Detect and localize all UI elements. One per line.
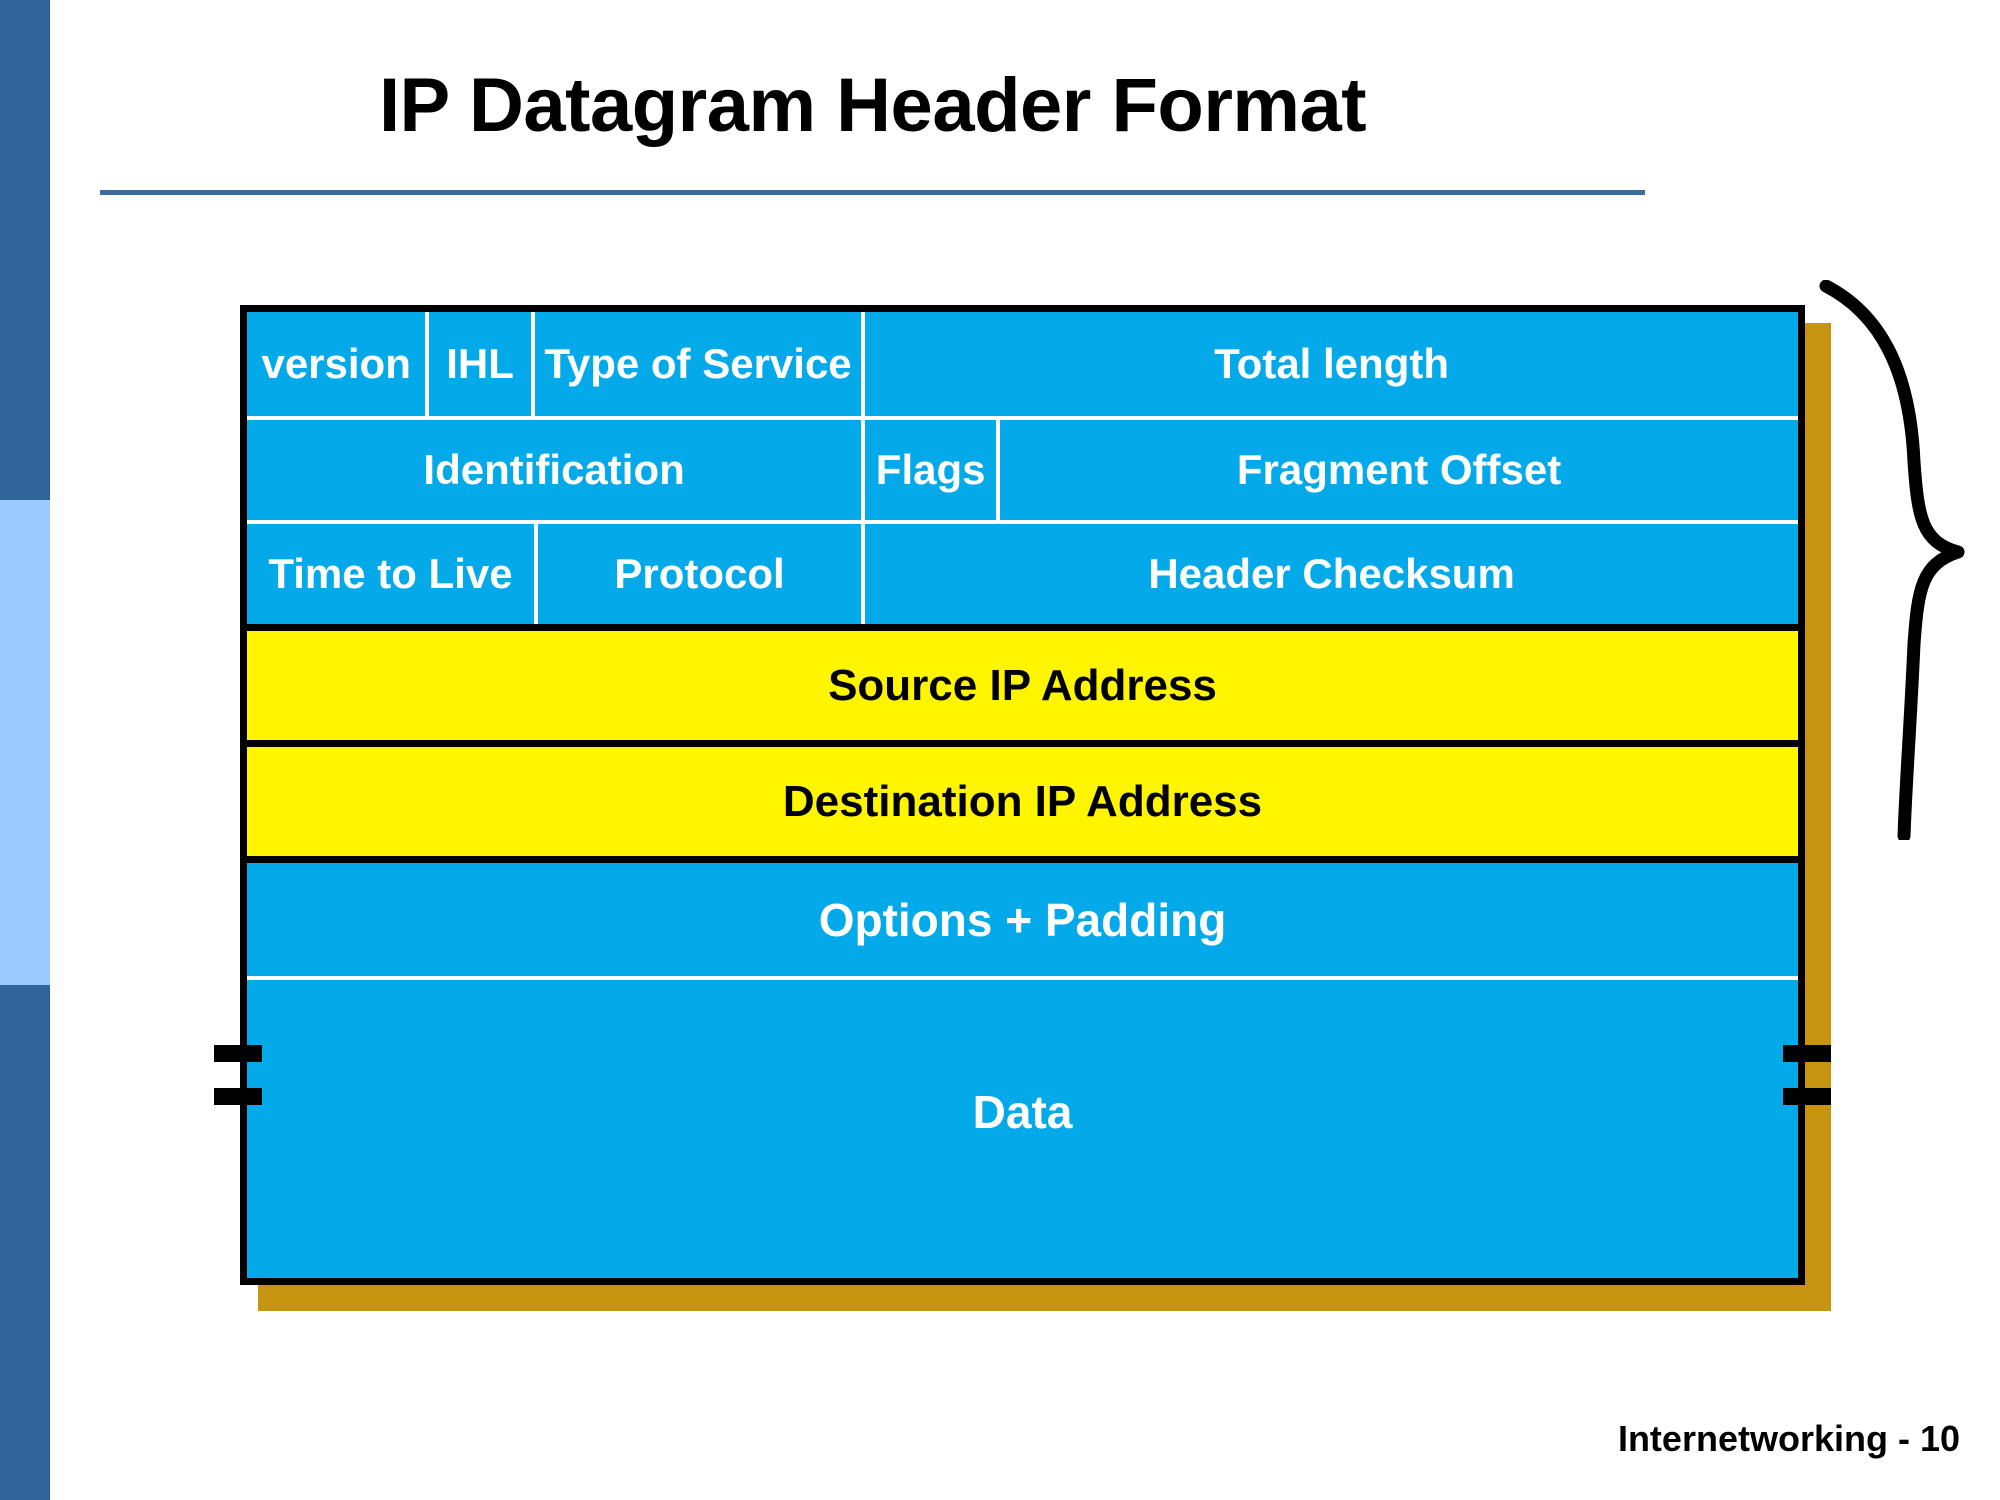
field-type-of-service: Type of Service (531, 312, 861, 416)
sidebar-segment-middle (0, 500, 50, 985)
field-time-to-live: Time to Live (247, 524, 534, 624)
table-row: Options + Padding (247, 856, 1798, 976)
ip-header-table: version IHL Type of Service Total length… (240, 305, 1805, 1285)
field-total-length: Total length (861, 312, 1798, 416)
title-divider (100, 190, 1645, 195)
break-tick-left-lower-icon (214, 1088, 262, 1105)
table-row: Identification Flags Fragment Offset (247, 416, 1798, 520)
field-identification: Identification (247, 420, 861, 520)
break-tick-right-lower-icon (1783, 1088, 1831, 1105)
slide-footer: Internetworking - 10 (1618, 1418, 1960, 1460)
field-data: Data (247, 980, 1798, 1244)
table-row: Time to Live Protocol Header Checksum (247, 520, 1798, 624)
field-source-ip-address: Source IP Address (247, 631, 1798, 740)
header-span-brace-icon (1818, 280, 2000, 840)
field-destination-ip-address: Destination IP Address (247, 747, 1798, 856)
table-row: Data (247, 976, 1798, 1244)
field-fragment-offset: Fragment Offset (996, 420, 1798, 520)
table-row: Destination IP Address (247, 740, 1798, 856)
sidebar-segment-top (0, 0, 50, 500)
field-version: version (247, 312, 425, 416)
field-protocol: Protocol (534, 524, 861, 624)
break-tick-right-upper-icon (1783, 1045, 1831, 1062)
ip-header-diagram: version IHL Type of Service Total length… (240, 305, 1820, 1305)
page-title: IP Datagram Header Format (100, 62, 1645, 149)
break-tick-left-upper-icon (214, 1045, 262, 1062)
field-options-padding: Options + Padding (247, 863, 1798, 976)
field-header-checksum: Header Checksum (861, 524, 1798, 624)
table-row: Source IP Address (247, 624, 1798, 740)
field-flags: Flags (861, 420, 996, 520)
table-row: version IHL Type of Service Total length (247, 312, 1798, 416)
slide-sidebar (0, 0, 50, 1500)
sidebar-segment-bottom (0, 985, 50, 1500)
field-ihl: IHL (425, 312, 530, 416)
